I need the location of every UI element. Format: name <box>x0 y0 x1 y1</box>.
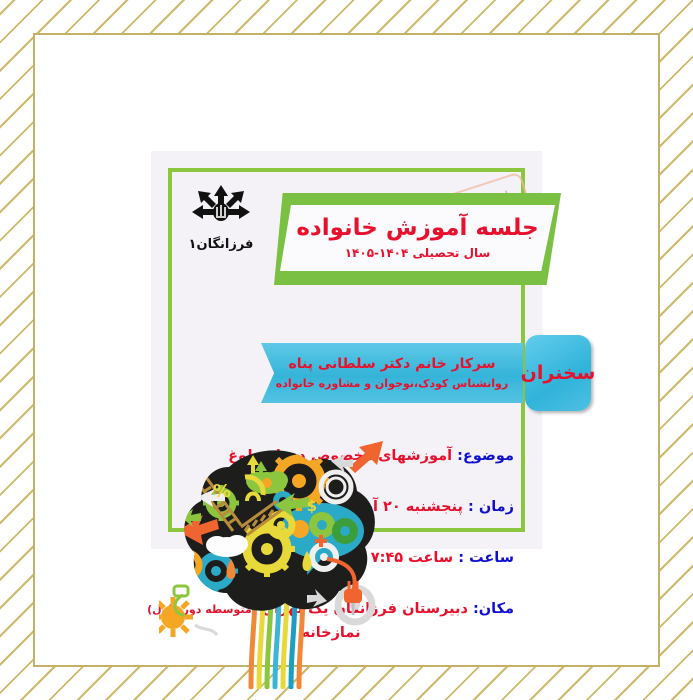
school-logo-caption: فرزانگان۱ <box>189 237 254 252</box>
poster-inner-white-mat: فرزانگان۱ واحد مشاوره جلسه آموزش خانواده… <box>79 79 614 621</box>
speaker-ribbon-tail-top <box>247 343 261 357</box>
svg-text:$: $ <box>307 497 317 515</box>
school-logo: فرزانگان۱ <box>178 183 264 263</box>
speaker-section: سرکار خانم دکتر سلطانی پناه روانشناس کود… <box>261 335 591 411</box>
detail-label-time: ساعت : <box>458 550 514 566</box>
speaker-ribbon: سرکار خانم دکتر سلطانی پناه روانشناس کود… <box>261 343 523 403</box>
brain-with-gears-illustration: % $ <box>159 439 391 689</box>
speaker-name: سرکار خانم دکتر سلطانی پناه <box>288 356 495 372</box>
farzanegan-emblem-icon <box>190 183 252 239</box>
svg-text:%: % <box>213 481 231 502</box>
poster-outer-striped-border: فرزانگان۱ واحد مشاوره جلسه آموزش خانواده… <box>0 0 693 700</box>
poster-title: جلسه آموزش خانواده <box>296 216 538 241</box>
poster-content-card: فرزانگان۱ واحد مشاوره جلسه آموزش خانواده… <box>151 151 542 549</box>
speaker-badge-label: سخنران <box>521 362 596 384</box>
detail-label-location: مکان: <box>473 601 514 617</box>
title-banner: جلسه آموزش خانواده سال تحصیلی ۱۴۰۴-۱۴۰۵ <box>274 193 561 285</box>
poster-gold-frame: فرزانگان۱ واحد مشاوره جلسه آموزش خانواده… <box>33 33 660 667</box>
orange-arrow-icon <box>349 441 383 473</box>
detail-label-date: زمان : <box>468 499 514 515</box>
detail-label-topic: موضوع: <box>457 448 514 464</box>
speaker-role: روانشناس کودک،نوجوان و مشاوره خانواده <box>276 377 508 390</box>
poster-subtitle-academic-year: سال تحصیلی ۱۴۰۴-۱۴۰۵ <box>345 246 491 260</box>
speaker-badge: سخنران <box>525 335 591 411</box>
speaker-ribbon-tail-bottom <box>247 389 261 403</box>
brain-illustration-graphic: % $ <box>159 439 391 689</box>
title-banner-white-panel: جلسه آموزش خانواده سال تحصیلی ۱۴۰۴-۱۴۰۵ <box>280 205 555 271</box>
